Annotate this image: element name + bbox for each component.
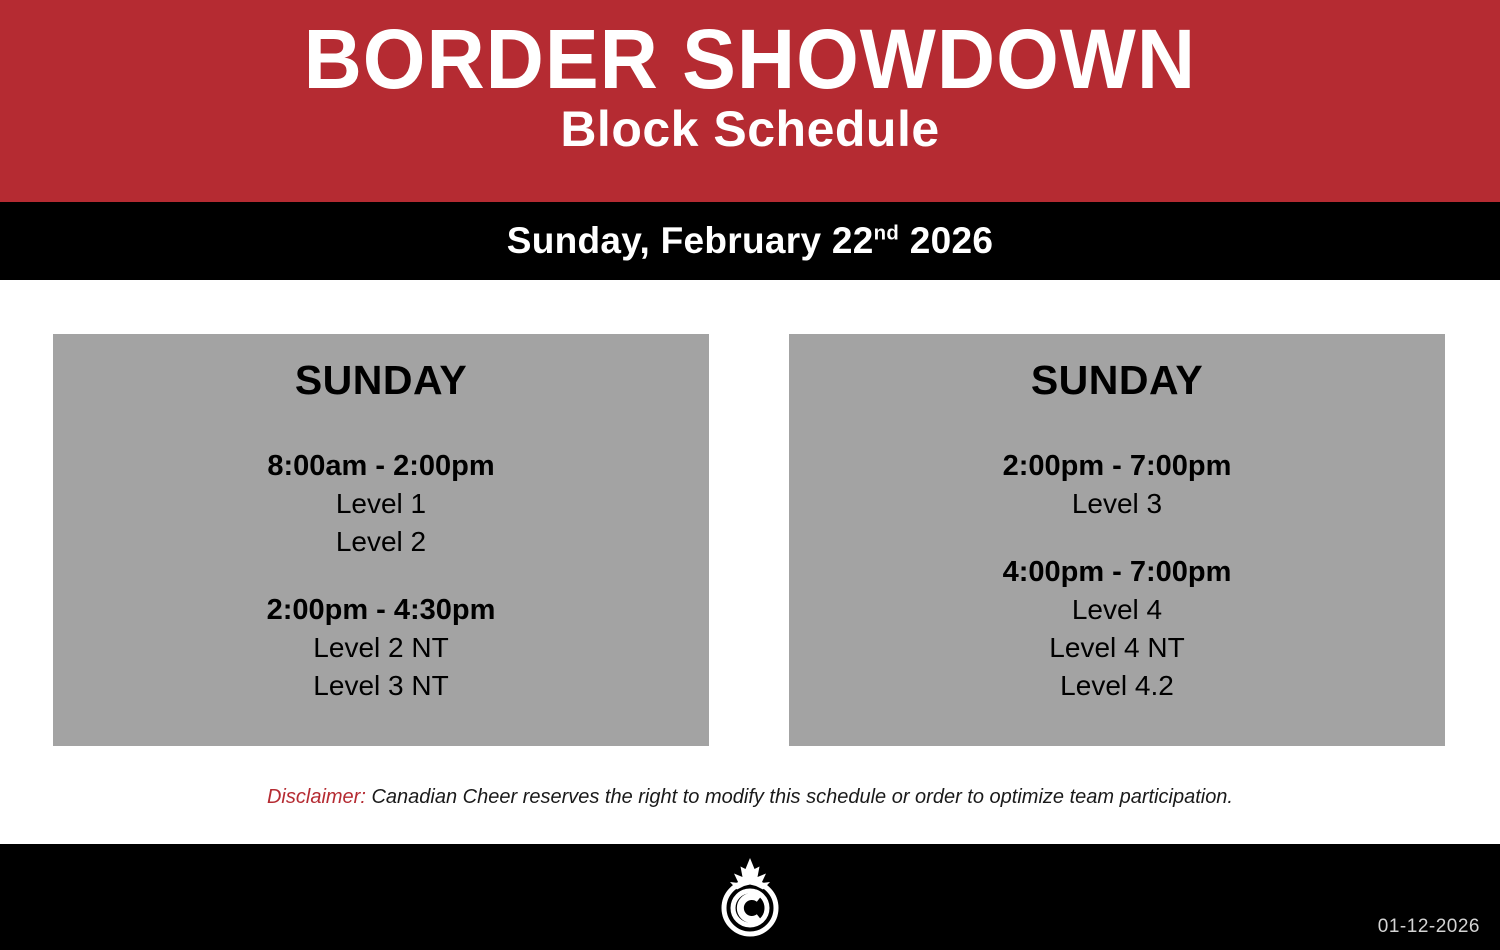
event-date-bar: Sunday, February 22nd 2026 — [0, 202, 1500, 280]
footer-bar: 01-12-2026 — [0, 844, 1500, 950]
panel-block-list: 2:00pm - 7:00pm Level 3 4:00pm - 7:00pm … — [789, 447, 1445, 705]
schedule-block: 2:00pm - 4:30pm Level 2 NT Level 3 NT — [53, 591, 709, 705]
schedule-block: 2:00pm - 7:00pm Level 3 — [789, 447, 1445, 523]
event-date-suffix: 2026 — [899, 220, 993, 261]
block-time: 2:00pm - 4:30pm — [53, 591, 709, 629]
panel-day-title: SUNDAY — [53, 334, 709, 405]
block-time: 4:00pm - 7:00pm — [789, 553, 1445, 591]
block-level: Level 2 NT — [53, 629, 709, 667]
header-banner: BORDER SHOWDOWN Block Schedule — [0, 0, 1500, 202]
block-level: Level 3 — [789, 485, 1445, 523]
event-date-ordinal: nd — [874, 223, 899, 245]
schedule-panel-left: SUNDAY 8:00am - 2:00pm Level 1 Level 2 2… — [53, 334, 709, 746]
block-level: Level 2 — [53, 523, 709, 561]
schedule-panel-right: SUNDAY 2:00pm - 7:00pm Level 3 4:00pm - … — [789, 334, 1445, 746]
block-level: Level 4.2 — [789, 667, 1445, 705]
block-level: Level 3 NT — [53, 667, 709, 705]
event-date: Sunday, February 22nd 2026 — [507, 220, 993, 262]
schedule-block: 4:00pm - 7:00pm Level 4 Level 4 NT Level… — [789, 553, 1445, 705]
page-subtitle: Block Schedule — [560, 100, 939, 158]
disclaimer-label: Disclaimer: — [267, 786, 366, 808]
canadian-cheer-logo-icon — [714, 856, 786, 938]
schedule-panels: SUNDAY 8:00am - 2:00pm Level 1 Level 2 2… — [0, 334, 1500, 746]
page-title: BORDER SHOWDOWN — [304, 0, 1196, 104]
disclaimer-text: Canadian Cheer reserves the right to mod… — [366, 786, 1233, 808]
footer-date-stamp: 01-12-2026 — [1378, 916, 1480, 938]
panel-day-title: SUNDAY — [789, 334, 1445, 405]
block-level: Level 4 NT — [789, 629, 1445, 667]
event-date-prefix: Sunday, February 22 — [507, 220, 874, 261]
block-level: Level 4 — [789, 591, 1445, 629]
block-time: 2:00pm - 7:00pm — [789, 447, 1445, 485]
disclaimer: Disclaimer: Canadian Cheer reserves the … — [0, 786, 1500, 809]
schedule-page: BORDER SHOWDOWN Block Schedule Sunday, F… — [0, 0, 1500, 950]
block-time: 8:00am - 2:00pm — [53, 447, 709, 485]
panel-block-list: 8:00am - 2:00pm Level 1 Level 2 2:00pm -… — [53, 447, 709, 705]
block-level: Level 1 — [53, 485, 709, 523]
schedule-block: 8:00am - 2:00pm Level 1 Level 2 — [53, 447, 709, 561]
